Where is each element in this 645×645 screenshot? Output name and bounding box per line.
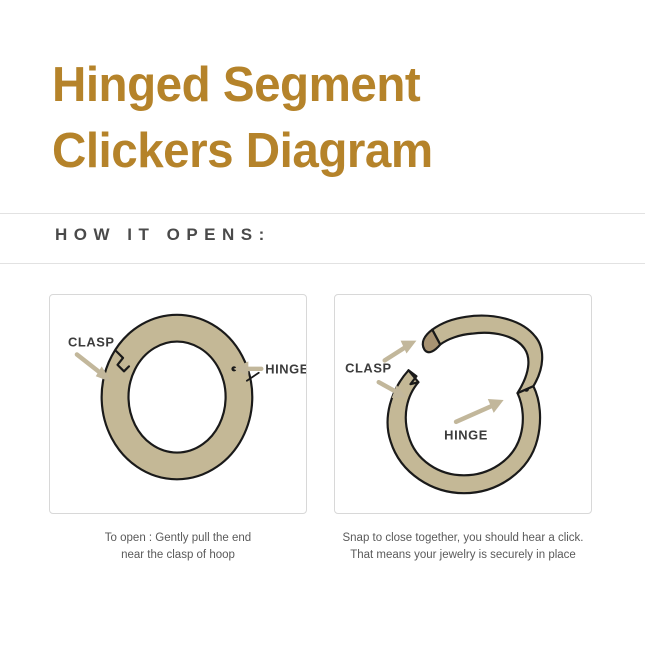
closed-ring-body (102, 315, 259, 479)
diagram-page: Hinged Segment Clickers Diagram HOW IT O… (0, 0, 645, 645)
hinge-callout: HINGE (233, 361, 306, 376)
panel-closed-ring: CLASP HINGE (49, 294, 307, 514)
closed-ring-illustration: CLASP HINGE (50, 295, 306, 513)
divider-top (0, 213, 645, 214)
clasp-arrow-upper-icon (385, 341, 417, 361)
open-ring-upper-segment (423, 316, 542, 393)
open-hinge-callout: HINGE (444, 399, 503, 443)
open-hinge-label: HINGE (444, 428, 488, 443)
divider-bottom (0, 263, 645, 264)
caption-left-line-2: near the clasp of hoop (49, 547, 307, 564)
hinge-label: HINGE (265, 361, 306, 376)
page-title-line-2: Clickers Diagram (52, 118, 595, 184)
clasp-label: CLASP (68, 335, 115, 350)
caption-left-line-1: To open : Gently pull the end (49, 530, 307, 547)
page-title-line-1: Hinged Segment (52, 52, 595, 118)
caption-closed-ring: To open : Gently pull the end near the c… (49, 530, 307, 564)
caption-right-line-2: That means your jewelry is securely in p… (334, 547, 592, 564)
open-ring-illustration: CLASP HINGE (335, 295, 591, 513)
ring-annulus (102, 315, 253, 479)
caption-right-line-1: Snap to close together, you should hear … (334, 530, 592, 547)
page-title: Hinged Segment Clickers Diagram (52, 52, 612, 184)
section-subtitle: HOW IT OPENS: (55, 225, 271, 245)
caption-open-ring: Snap to close together, you should hear … (334, 530, 592, 564)
open-hinge-arrow-icon (456, 399, 504, 422)
upper-segment-body (432, 316, 542, 393)
panel-open-ring: CLASP HINGE (334, 294, 592, 514)
